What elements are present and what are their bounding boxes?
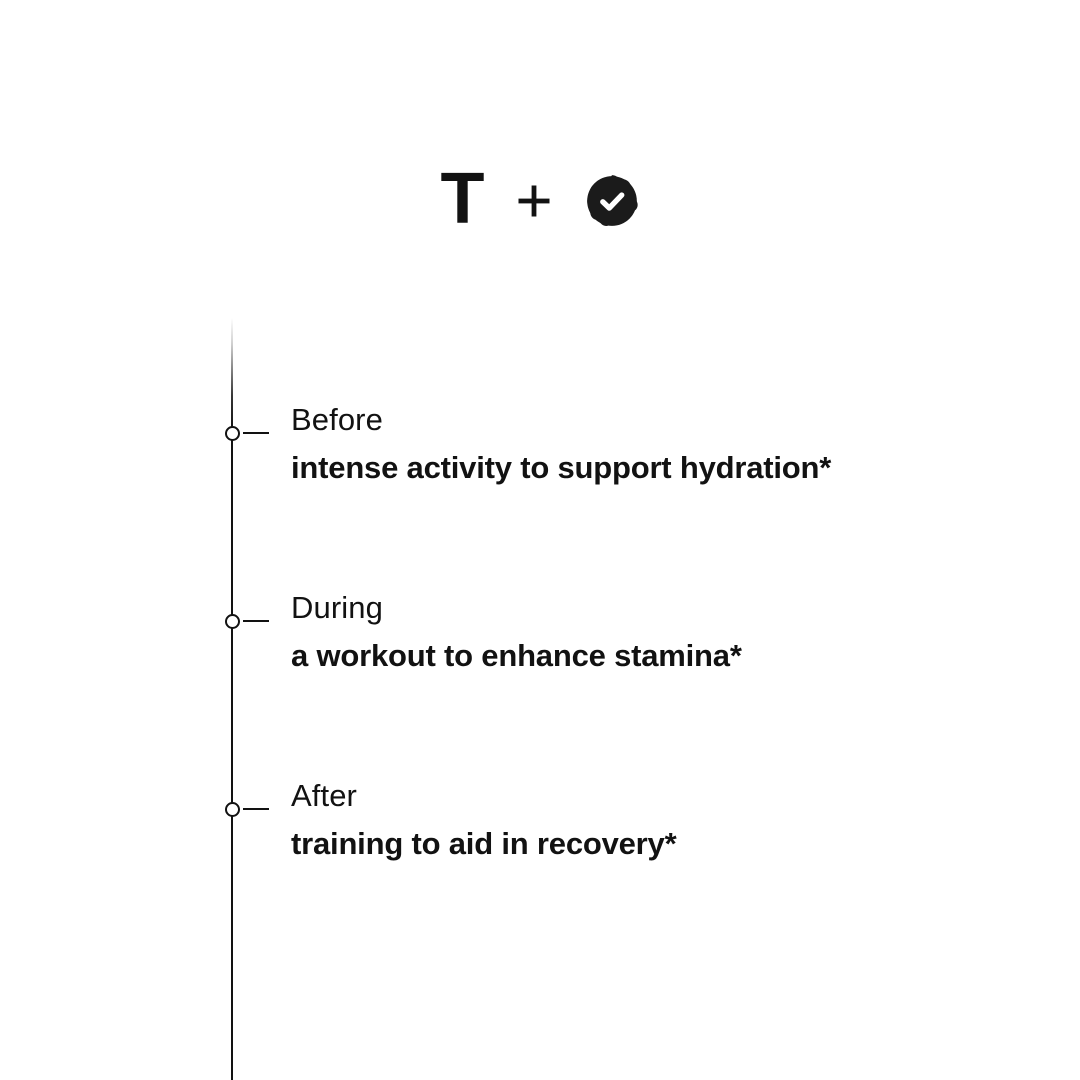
timeline-entry-body: After training to aid in recovery*	[291, 776, 1031, 864]
timeline-node-icon	[225, 802, 240, 817]
timeline-entry-label: After	[291, 776, 1031, 816]
timeline-entry-detail: a workout to enhance stamina*	[291, 636, 1031, 676]
timeline-tick-icon	[243, 432, 269, 434]
timeline-tick-icon	[243, 620, 269, 622]
timeline-entry-label: During	[291, 588, 1031, 628]
timeline-tick-icon	[243, 808, 269, 810]
timeline-entry-detail: training to aid in recovery*	[291, 824, 1031, 864]
usage-timeline-card: T Before intense act	[0, 0, 1080, 1080]
timeline-entry-detail: intense activity to support hydration*	[291, 448, 1031, 488]
timeline-entry-body: Before intense activity to support hydra…	[291, 400, 1031, 488]
timeline-entry-list: Before intense activity to support hydra…	[0, 0, 1080, 1080]
timeline-node-icon	[225, 426, 240, 441]
timeline-entry-body: During a workout to enhance stamina*	[291, 588, 1031, 676]
timeline: Before intense activity to support hydra…	[0, 0, 1080, 1080]
timeline-node-icon	[225, 614, 240, 629]
timeline-entry-label: Before	[291, 400, 1031, 440]
